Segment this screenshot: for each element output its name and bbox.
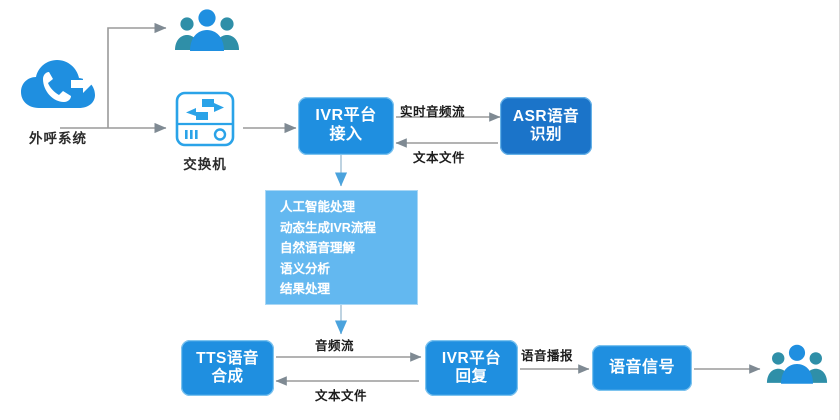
ivr-access-line1: IVR平台 [315, 107, 376, 126]
tts-line2: 合成 [211, 368, 243, 386]
process-line-5: 结果处理 [280, 279, 417, 300]
voice-signal-node[interactable]: 语音信号 [592, 345, 692, 391]
asr-line1: ASR语音 [513, 108, 579, 126]
diagram-canvas: 外呼系统 交换机 IVR平台 接入 ASR [0, 0, 840, 420]
customers-group-node[interactable] [762, 343, 832, 390]
voice-signal-line1: 语音信号 [609, 359, 675, 378]
ivr-reply-node[interactable]: IVR平台 回复 [425, 340, 518, 396]
agents-group-node[interactable] [172, 8, 242, 57]
label-voice-broadcast: 语音播报 [521, 345, 573, 364]
label-realtime-audio-stream: 实时音频流 [400, 101, 465, 120]
connector-layer [0, 0, 840, 420]
process-line-1: 人工智能处理 [280, 197, 417, 218]
people-group-icon [766, 343, 828, 387]
switch-node[interactable]: 交换机 [166, 90, 244, 173]
label-text-file-top: 文本文件 [413, 147, 465, 166]
asr-node[interactable]: ASR语音 识别 [500, 97, 592, 155]
label-text-file-bottom: 文本文件 [315, 385, 367, 404]
asr-line2: 识别 [530, 126, 562, 144]
ivr-access-line2: 接入 [329, 126, 362, 145]
process-line-4: 语义分析 [280, 259, 417, 280]
tts-node[interactable]: TTS语音 合成 [181, 340, 274, 396]
ai-processing-box: 人工智能处理 动态生成IVR流程 自然语音理解 语义分析 结果处理 [265, 190, 418, 305]
cloud-phone-icon [19, 58, 97, 124]
ivr-reply-line1: IVR平台 [442, 350, 501, 368]
outbound-system-node[interactable]: 外呼系统 [8, 58, 108, 147]
label-audio-stream: 音频流 [315, 335, 354, 354]
process-line-3: 自然语音理解 [280, 238, 417, 259]
switch-label: 交换机 [183, 153, 227, 173]
ivr-access-node[interactable]: IVR平台 接入 [298, 97, 394, 155]
outbound-system-label: 外呼系统 [29, 127, 87, 147]
ivr-reply-line2: 回复 [455, 368, 487, 386]
process-line-2: 动态生成IVR流程 [280, 218, 417, 239]
network-switch-icon [174, 90, 236, 150]
tts-line1: TTS语音 [196, 350, 259, 368]
people-group-icon [174, 8, 240, 54]
